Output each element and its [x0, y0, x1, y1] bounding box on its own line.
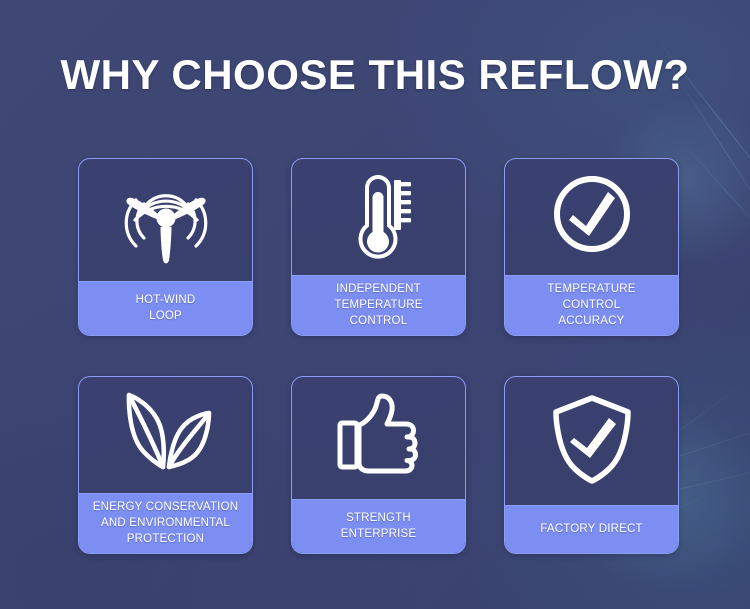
card-label: FACTORY DIRECT: [505, 505, 678, 553]
feature-card-energy-conservation[interactable]: ENERGY CONSERVATION AND ENVIRONMENTAL PR…: [78, 376, 253, 554]
fan-waves-icon: [114, 170, 218, 270]
background-streak: [680, 140, 750, 252]
card-label-line: AND ENVIRONMENTAL: [83, 515, 248, 531]
card-label-line: CONTROL: [509, 297, 674, 313]
promo-poster: WHY CHOOSE THIS REFLOW?: [0, 0, 750, 609]
leaves-icon: [113, 387, 219, 481]
check-circle-icon: [544, 168, 640, 264]
card-label: INDEPENDENT TEMPERATURE CONTROL: [292, 275, 465, 335]
icon-area: [292, 159, 465, 275]
card-label-line: TEMPERATURE: [296, 297, 461, 313]
card-label: STRENGTH ENTERPRISE: [292, 499, 465, 553]
feature-card-strength-enterprise[interactable]: STRENGTH ENTERPRISE: [291, 376, 466, 554]
card-label-line: HOT-WIND: [84, 292, 247, 308]
card-label: HOT-WIND LOOP: [79, 281, 252, 335]
card-label-line: PROTECTION: [83, 531, 248, 547]
icon-area: [505, 159, 678, 275]
card-label-line: ENTERPRISE: [297, 526, 460, 542]
icon-area: [79, 159, 252, 281]
card-label-line: INDEPENDENT: [296, 281, 461, 297]
thermometer-icon: [334, 168, 424, 264]
shield-check-icon: [546, 392, 638, 488]
card-label-line: LOOP: [84, 308, 247, 324]
card-label-line: TEMPERATURE: [509, 281, 674, 297]
feature-card-grid: HOT-WIND LOOP: [78, 158, 678, 554]
card-label-line: ACCURACY: [509, 313, 674, 329]
card-label: TEMPERATURE CONTROL ACCURACY: [505, 275, 678, 335]
card-label-line: FACTORY DIRECT: [510, 521, 673, 537]
icon-area: [505, 377, 678, 505]
feature-card-independent-temperature-control[interactable]: INDEPENDENT TEMPERATURE CONTROL: [291, 158, 466, 336]
icon-area: [292, 377, 465, 499]
card-label-line: STRENGTH: [297, 510, 460, 526]
icon-area: [79, 377, 252, 493]
card-label-line: ENERGY CONSERVATION: [83, 499, 248, 515]
thumbs-up-icon: [333, 390, 425, 484]
feature-card-factory-direct[interactable]: FACTORY DIRECT: [504, 376, 679, 554]
card-label: ENERGY CONSERVATION AND ENVIRONMENTAL PR…: [79, 493, 252, 553]
feature-card-temperature-control-accuracy[interactable]: TEMPERATURE CONTROL ACCURACY: [504, 158, 679, 336]
page-title: WHY CHOOSE THIS REFLOW?: [0, 52, 750, 98]
feature-card-hot-wind-loop[interactable]: HOT-WIND LOOP: [78, 158, 253, 336]
card-label-line: CONTROL: [296, 313, 461, 329]
background-streak: [677, 77, 750, 229]
